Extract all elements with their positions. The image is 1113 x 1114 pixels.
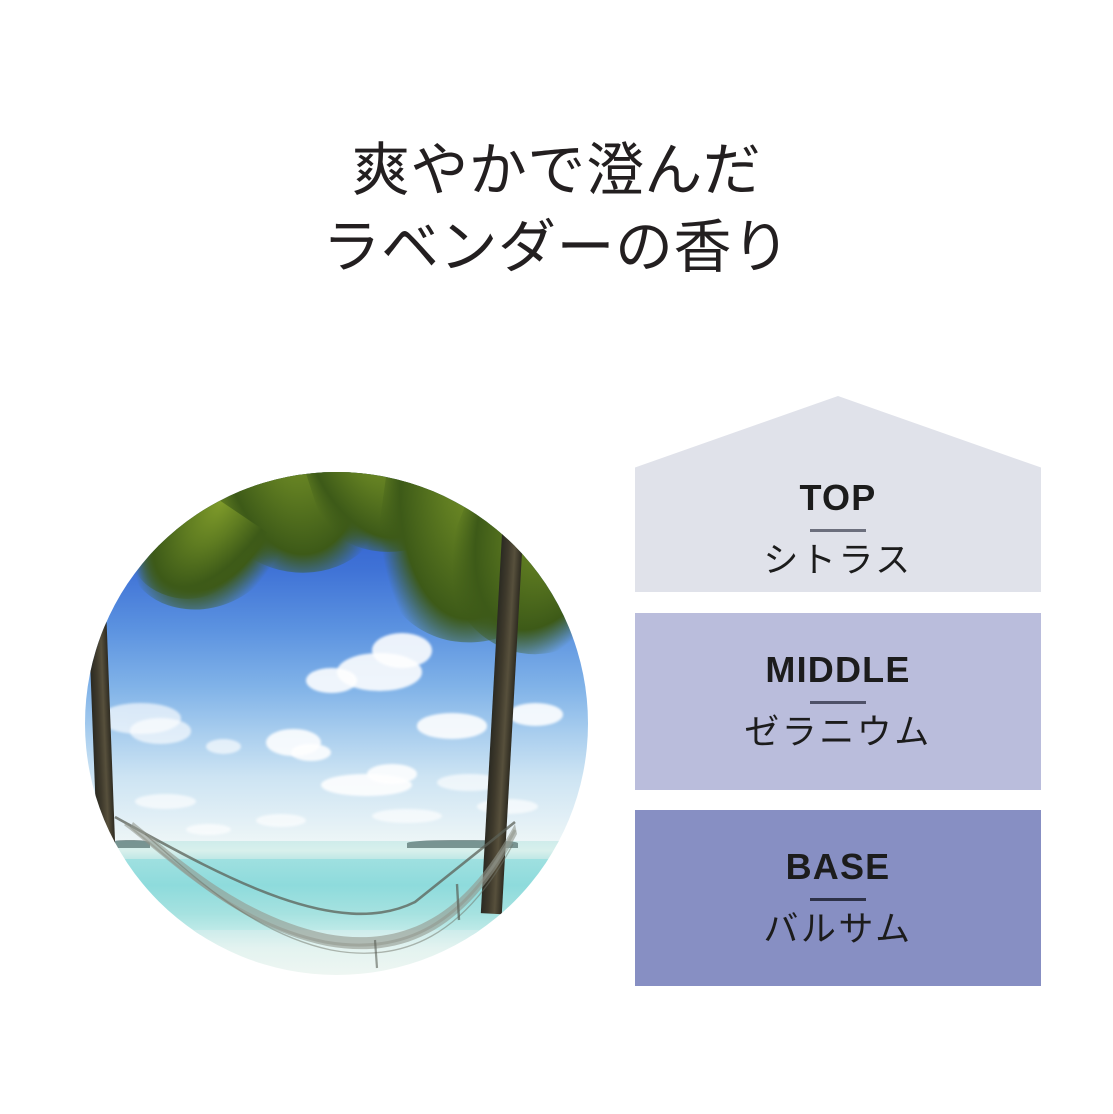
beach-photo-inner bbox=[85, 472, 588, 975]
page-title-line-2: ラベンダーの香り bbox=[0, 209, 1113, 286]
note-middle-content: MIDDLE ゼラニウム bbox=[635, 613, 1041, 790]
note-base-divider bbox=[810, 898, 866, 901]
note-top-scent: シトラス bbox=[763, 544, 912, 579]
fragrance-pyramid: TOP シトラス MIDDLE ゼラニウム BASE バルサム bbox=[635, 396, 1041, 986]
note-block-middle[interactable]: MIDDLE ゼラニウム bbox=[635, 613, 1041, 790]
note-base-label: BASE bbox=[786, 849, 891, 885]
beach-photo-circle bbox=[85, 472, 588, 975]
note-block-base[interactable]: BASE バルサム bbox=[635, 810, 1041, 986]
page-title: 爽やかで澄んだ ラベンダーの香り bbox=[0, 132, 1113, 285]
note-middle-scent: ゼラニウム bbox=[744, 716, 932, 751]
note-base-scent: バルサム bbox=[763, 913, 912, 948]
note-base-content: BASE バルサム bbox=[635, 810, 1041, 986]
page-title-line-1: 爽やかで澄んだ bbox=[0, 132, 1113, 209]
fragrance-note-panel: 爽やかで澄んだ ラベンダーの香り bbox=[0, 0, 1113, 1114]
hammock-icon bbox=[85, 472, 588, 975]
note-middle-divider bbox=[810, 701, 866, 704]
note-middle-label: MIDDLE bbox=[765, 652, 910, 688]
note-top-label: TOP bbox=[800, 480, 877, 516]
note-top-content: TOP シトラス bbox=[635, 468, 1041, 592]
note-block-top[interactable]: TOP シトラス bbox=[635, 396, 1041, 592]
note-top-divider bbox=[810, 529, 866, 532]
